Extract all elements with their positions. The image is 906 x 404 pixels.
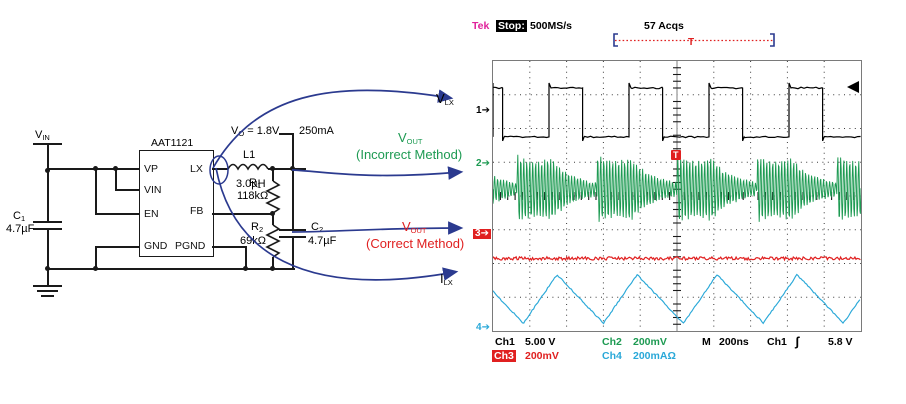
trigger-t-marker[interactable]: T [671, 150, 681, 160]
channel-marker-2[interactable]: 2➔ [476, 159, 490, 169]
trigger-level-arrow [847, 81, 859, 93]
annotation-vlx: VLX [436, 92, 454, 107]
run-state-badge[interactable]: Stop: [496, 20, 527, 32]
status-ch3-scale[interactable]: 200mV [525, 350, 559, 362]
channel-marker-4[interactable]: 4➔ [476, 323, 490, 333]
annotation-vout-correct: VOUT [402, 220, 427, 235]
status-trigger-slope-icon[interactable]: ʃ [795, 334, 799, 349]
svg-text:T: T [688, 37, 694, 48]
annotation-vout-incorrect-note: (Incorrect Method) [356, 148, 462, 161]
channel-marker-1[interactable]: 1➔ [476, 106, 490, 116]
trigger-position-bar[interactable]: T [470, 32, 888, 50]
waveform-plot-area[interactable]: T [492, 60, 862, 332]
annotation-vout-incorrect: VOUT [398, 131, 423, 146]
status-timebase-value[interactable]: 200ns [719, 336, 749, 348]
status-ch1-label[interactable]: Ch1 [495, 336, 515, 348]
status-ch1-scale[interactable]: 5.00 V [525, 336, 555, 348]
annotation-ilx: ILX [440, 272, 453, 287]
channel-marker-3[interactable]: 3➔ [473, 229, 491, 239]
oscilloscope-screenshot: Tek Stop: 500MS/s 57 Acqs T [470, 14, 888, 370]
acq-count: 57 Acqs [644, 20, 684, 32]
probe-arrow-vout-correct [292, 228, 460, 232]
status-ch2-label[interactable]: Ch2 [602, 336, 622, 348]
probe-arrow-vout-incorrect [292, 170, 460, 175]
sample-rate: 500MS/s [530, 20, 572, 32]
waveform-svg [493, 61, 861, 331]
status-ch2-scale[interactable]: 200mV [633, 336, 667, 348]
status-ch4-label[interactable]: Ch4 [602, 350, 622, 362]
status-trigger-level[interactable]: 5.8 V [828, 336, 853, 348]
status-ch4-scale[interactable]: 200mAΩ [633, 350, 676, 362]
trace [493, 275, 860, 324]
annotation-vout-correct-note: (Correct Method) [366, 237, 464, 250]
scope-brand: Tek [472, 20, 489, 32]
status-trigger-source[interactable]: Ch1 [767, 336, 787, 348]
status-timebase-label: M [702, 336, 711, 348]
status-ch3-label[interactable]: Ch3 [492, 350, 516, 362]
